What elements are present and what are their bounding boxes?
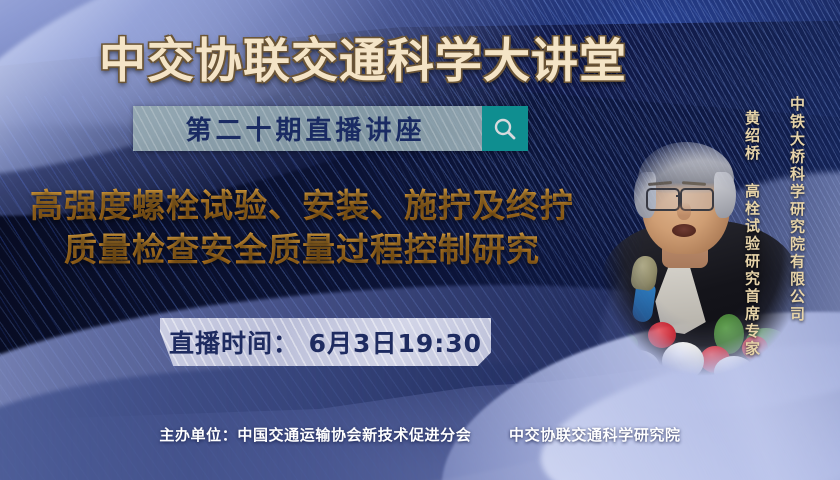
lecture-title: 高强度螺栓试验、安装、施拧及终拧 质量检查安全质量过程控制研究	[0, 184, 604, 272]
subtitle-text: 第二十期直播讲座	[133, 106, 482, 151]
speaker-company-vertical-text: 中铁大桥科学研究院有限公司	[789, 96, 804, 324]
footer-organizers: 主办单位：中国交通运输协会新技术促进分会 中交协联交通科学研究院	[0, 424, 840, 445]
broadcast-time-banner: 直播时间： 6月3日19:30	[160, 318, 491, 366]
search-button[interactable]	[482, 106, 528, 151]
lecture-title-line-1: 高强度螺栓试验、安装、施拧及终拧	[0, 184, 604, 228]
live-lecture-poster: 中交协联交通科学大讲堂 第二十期直播讲座 高强度螺栓试验、安装、施拧及终拧 质量…	[0, 0, 840, 480]
footer-organizer-secondary: 中交协联交通科学研究院	[509, 426, 681, 444]
page-title: 中交协联交通科学大讲堂	[0, 22, 726, 91]
broadcast-time-text: 直播时间： 6月3日19:30	[169, 324, 482, 360]
speaker-name-title-vertical-text: 黄绍桥 高栓试验研究首席专家	[744, 110, 759, 358]
subtitle-banner: 第二十期直播讲座	[133, 106, 528, 151]
poster-content: 中交协联交通科学大讲堂 第二十期直播讲座 高强度螺栓试验、安装、施拧及终拧 质量…	[0, 0, 840, 480]
lecture-title-line-2: 质量检查安全质量过程控制研究	[0, 228, 604, 272]
search-icon	[492, 116, 518, 142]
footer-organizer-primary: 主办单位：中国交通运输协会新技术促进分会	[159, 426, 471, 444]
